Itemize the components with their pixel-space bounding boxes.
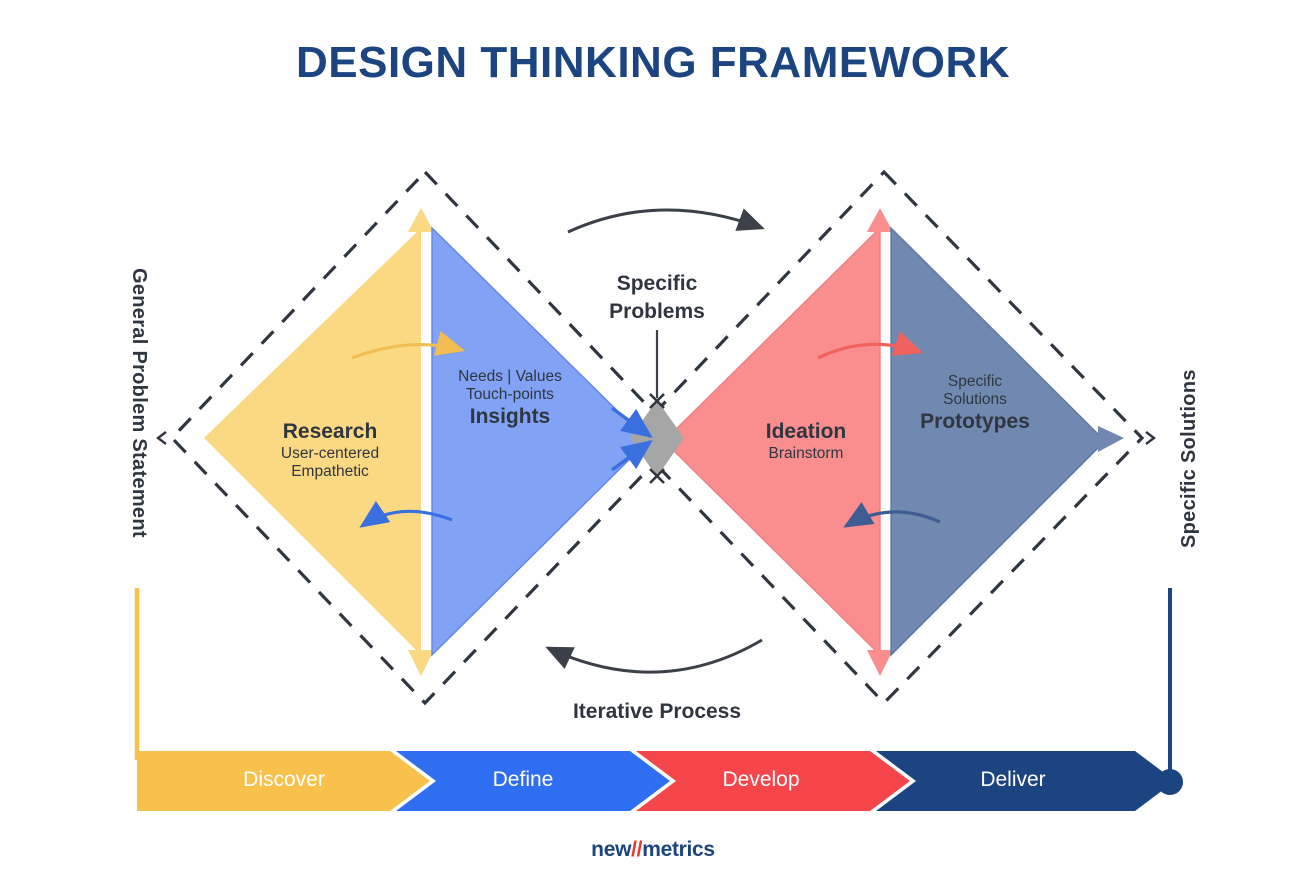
quadrant-prototypes-text: Specific Solutions Prototypes — [895, 373, 1055, 434]
quadrant-ideation-text: Ideation Brainstorm — [726, 420, 886, 463]
specific-problems-line-2: Problems — [557, 298, 757, 326]
quadrant-prototypes — [891, 228, 1124, 655]
phase-label-deliver[interactable]: Deliver — [933, 768, 1093, 792]
research-sub-2: Empathetic — [250, 463, 410, 481]
logo-slash-icon: // — [631, 838, 642, 861]
right-axis-label: Specific Solutions — [1178, 369, 1201, 548]
insights-top-2: Touch-points — [430, 386, 590, 404]
prototypes-heading: Prototypes — [895, 410, 1055, 435]
diagram-canvas: DESIGN THINKING FRAMEWORK — [0, 0, 1306, 892]
top-arc-arrow — [568, 210, 762, 232]
phase-label-define[interactable]: Define — [443, 768, 603, 792]
iterative-process-label: Iterative Process — [537, 700, 777, 724]
center-grey-diamond — [630, 400, 684, 477]
insights-top-1: Needs | Values — [430, 368, 590, 386]
ideation-sub-1: Brainstorm — [726, 445, 886, 463]
prototypes-top-1: Specific — [895, 373, 1055, 391]
phase-label-discover[interactable]: Discover — [204, 768, 364, 792]
quadrant-research-text: Research User-centered Empathetic — [250, 420, 410, 481]
phase-label-develop[interactable]: Develop — [681, 768, 841, 792]
research-sub-1: User-centered — [250, 445, 410, 463]
left-axis-label: General Problem Statement — [127, 268, 150, 538]
ideation-heading: Ideation — [726, 420, 886, 445]
research-heading: Research — [250, 420, 410, 445]
bottom-arc-arrow — [548, 640, 762, 672]
prototypes-top-2: Solutions — [895, 391, 1055, 409]
quadrant-insights-text: Needs | Values Touch-points Insights — [430, 368, 590, 429]
logo-text-part2: metrics — [642, 838, 715, 861]
specific-problems-line-1: Specific — [557, 270, 757, 298]
brand-logo: new//metrics — [0, 838, 1306, 862]
specific-problems-label: Specific Problems — [557, 270, 757, 327]
right-outer-chevron-icon — [1146, 432, 1154, 444]
insights-heading: Insights — [430, 405, 590, 430]
logo-text-part1: new — [591, 838, 631, 861]
left-outer-chevron-icon — [158, 432, 166, 444]
diagram-graphics — [0, 0, 1306, 892]
